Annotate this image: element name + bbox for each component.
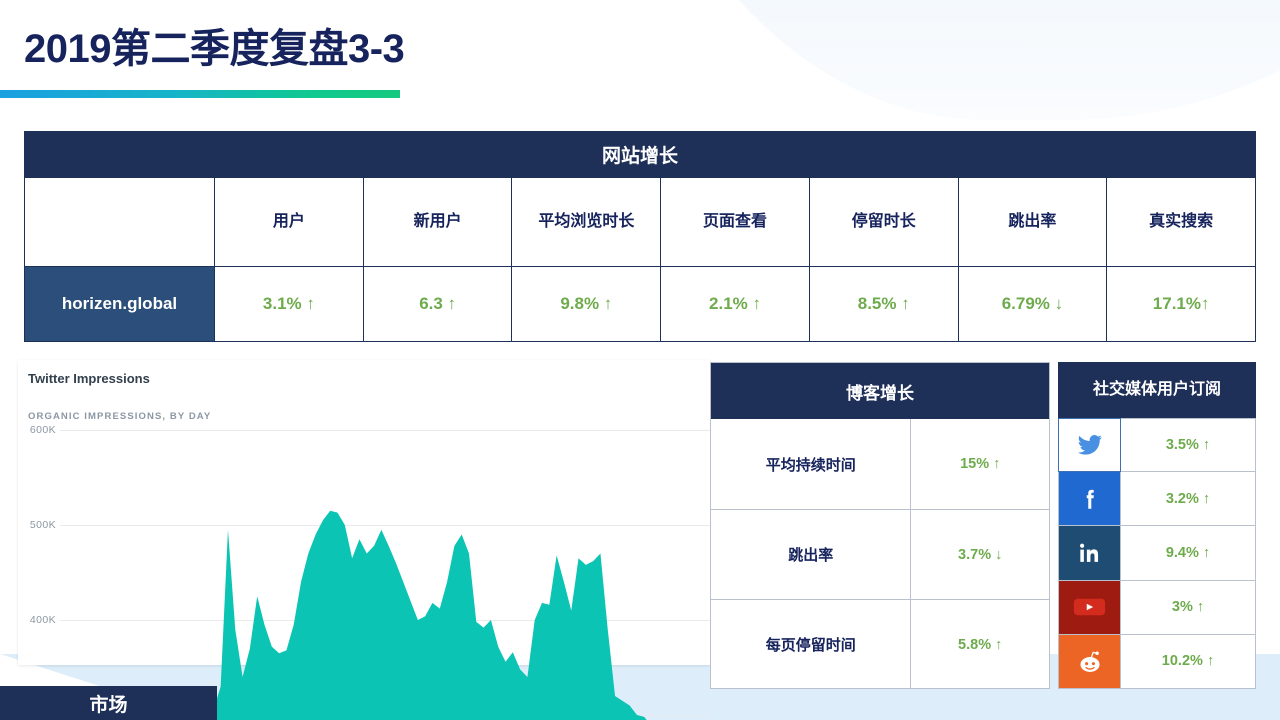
website-table-column-7: 真实搜索17.1%↑ xyxy=(1107,178,1256,342)
chart-plot-area xyxy=(60,430,710,720)
social-media-row: 3% ↑ xyxy=(1058,581,1256,635)
social-media-row: 3.2% ↑ xyxy=(1058,472,1256,526)
website-table-column-2: 新用户6.3 ↑ xyxy=(364,178,513,342)
blog-growth-row: 平均持续时间15% ↑ xyxy=(711,419,1049,509)
website-table-column-5: 停留时长8.5% ↑ xyxy=(810,178,959,342)
background-curve-decoration xyxy=(586,0,1280,120)
website-table-cell-value: 9.8% ↑ xyxy=(512,266,660,341)
website-table-cell-value: 6.3 ↑ xyxy=(364,266,512,341)
website-table-row-label: horizen.global xyxy=(25,266,214,341)
website-table-cell-value: 6.79% ↓ xyxy=(959,266,1107,341)
blog-growth-table: 博客增长 平均持续时间15% ↑跳出率3.7% ↓每页停留时间5.8% ↑ xyxy=(710,362,1050,689)
blog-growth-rows: 平均持续时间15% ↑跳出率3.7% ↓每页停留时间5.8% ↑ xyxy=(711,419,1049,689)
social-media-metric-value: 3.5% ↑ xyxy=(1121,418,1256,472)
blog-growth-metric-value: 15% ↑ xyxy=(911,419,1049,509)
blog-growth-metric-label: 每页停留时间 xyxy=(711,600,911,689)
social-media-rows: 3.5% ↑3.2% ↑9.4% ↑3% ↑10.2% ↑ xyxy=(1058,418,1256,689)
chart-title: Twitter Impressions xyxy=(28,371,150,386)
website-table-column-header xyxy=(25,178,214,266)
social-media-metric-value: 3.2% ↑ xyxy=(1121,472,1256,526)
website-table-column-header: 页面查看 xyxy=(661,178,809,266)
website-table-column-header: 新用户 xyxy=(364,178,512,266)
blog-growth-metric-label: 跳出率 xyxy=(711,510,911,599)
twitter-icon xyxy=(1058,418,1121,472)
website-table-column-header: 跳出率 xyxy=(959,178,1107,266)
chart-y-tick-label: 600K xyxy=(30,424,56,436)
website-table-column-3: 平均浏览时长9.8% ↑ xyxy=(512,178,661,342)
social-media-subscribers-table: 社交媒体 用户订阅 3.5% ↑3.2% ↑9.4% ↑3% ↑10.2% ↑ xyxy=(1058,362,1256,689)
website-table-rowlabel-column: horizen.global xyxy=(24,178,215,342)
social-media-table-header: 社交媒体 用户订阅 xyxy=(1058,362,1256,418)
blog-growth-row: 跳出率3.7% ↓ xyxy=(711,509,1049,599)
website-table-column-header: 停留时长 xyxy=(810,178,958,266)
footer-section-tab: 市场 xyxy=(0,686,217,720)
social-media-metric-value: 10.2% ↑ xyxy=(1121,635,1256,689)
chart-y-tick-label: 500K xyxy=(30,519,56,531)
website-table-cell-value: 2.1% ↑ xyxy=(661,266,809,341)
chart-y-axis: 0100K200K300K400K500K600K xyxy=(18,430,56,720)
social-media-metric-value: 3% ↑ xyxy=(1121,581,1256,635)
website-table-column-4: 页面查看2.1% ↑ xyxy=(661,178,810,342)
website-table-cell-value: 17.1%↑ xyxy=(1107,266,1255,341)
website-table-column-6: 跳出率6.79% ↓ xyxy=(959,178,1108,342)
social-media-row: 9.4% ↑ xyxy=(1058,526,1256,580)
social-media-metric-value: 9.4% ↑ xyxy=(1121,526,1256,580)
social-media-row: 10.2% ↑ xyxy=(1058,635,1256,689)
website-table-column-header: 用户 xyxy=(215,178,363,266)
blog-growth-row: 每页停留时间5.8% ↑ xyxy=(711,599,1049,689)
social-media-row: 3.5% ↑ xyxy=(1058,418,1256,472)
website-table-cell-value: 3.1% ↑ xyxy=(215,266,363,341)
website-table-column-header: 平均浏览时长 xyxy=(512,178,660,266)
website-growth-table-grid: horizen.global用户3.1% ↑新用户6.3 ↑平均浏览时长9.8%… xyxy=(24,178,1256,342)
youtube-icon xyxy=(1058,581,1121,635)
social-header-line1: 社交媒体 xyxy=(1093,380,1157,400)
chart-subtitle: ORGANIC IMPRESSIONS, BY DAY xyxy=(28,411,211,422)
chart-y-tick-label: 400K xyxy=(30,614,56,626)
chart-area-series xyxy=(60,430,710,720)
title-underline-rule xyxy=(0,90,400,98)
website-table-cell-value: 8.5% ↑ xyxy=(810,266,958,341)
linkedin-icon xyxy=(1058,526,1121,580)
website-table-column-1: 用户3.1% ↑ xyxy=(215,178,364,342)
reddit-icon xyxy=(1058,635,1121,689)
website-growth-table-header: 网站增长 xyxy=(24,131,1256,178)
twitter-impressions-card: Twitter Impressions ORGANIC IMPRESSIONS,… xyxy=(18,360,710,665)
social-header-line2: 用户订阅 xyxy=(1157,380,1221,400)
blog-growth-metric-value: 5.8% ↑ xyxy=(911,600,1049,689)
page-title: 2019第二季度复盘3-3 xyxy=(24,16,404,74)
facebook-icon xyxy=(1058,472,1121,526)
website-growth-table: 网站增长 horizen.global用户3.1% ↑新用户6.3 ↑平均浏览时… xyxy=(24,131,1256,342)
blog-growth-metric-label: 平均持续时间 xyxy=(711,419,911,509)
website-table-column-header: 真实搜索 xyxy=(1107,178,1255,266)
slide-root: 2019第二季度复盘3-3 网站增长 horizen.global用户3.1% … xyxy=(0,0,1280,720)
blog-growth-metric-value: 3.7% ↓ xyxy=(911,510,1049,599)
blog-growth-table-header: 博客增长 xyxy=(711,363,1049,419)
